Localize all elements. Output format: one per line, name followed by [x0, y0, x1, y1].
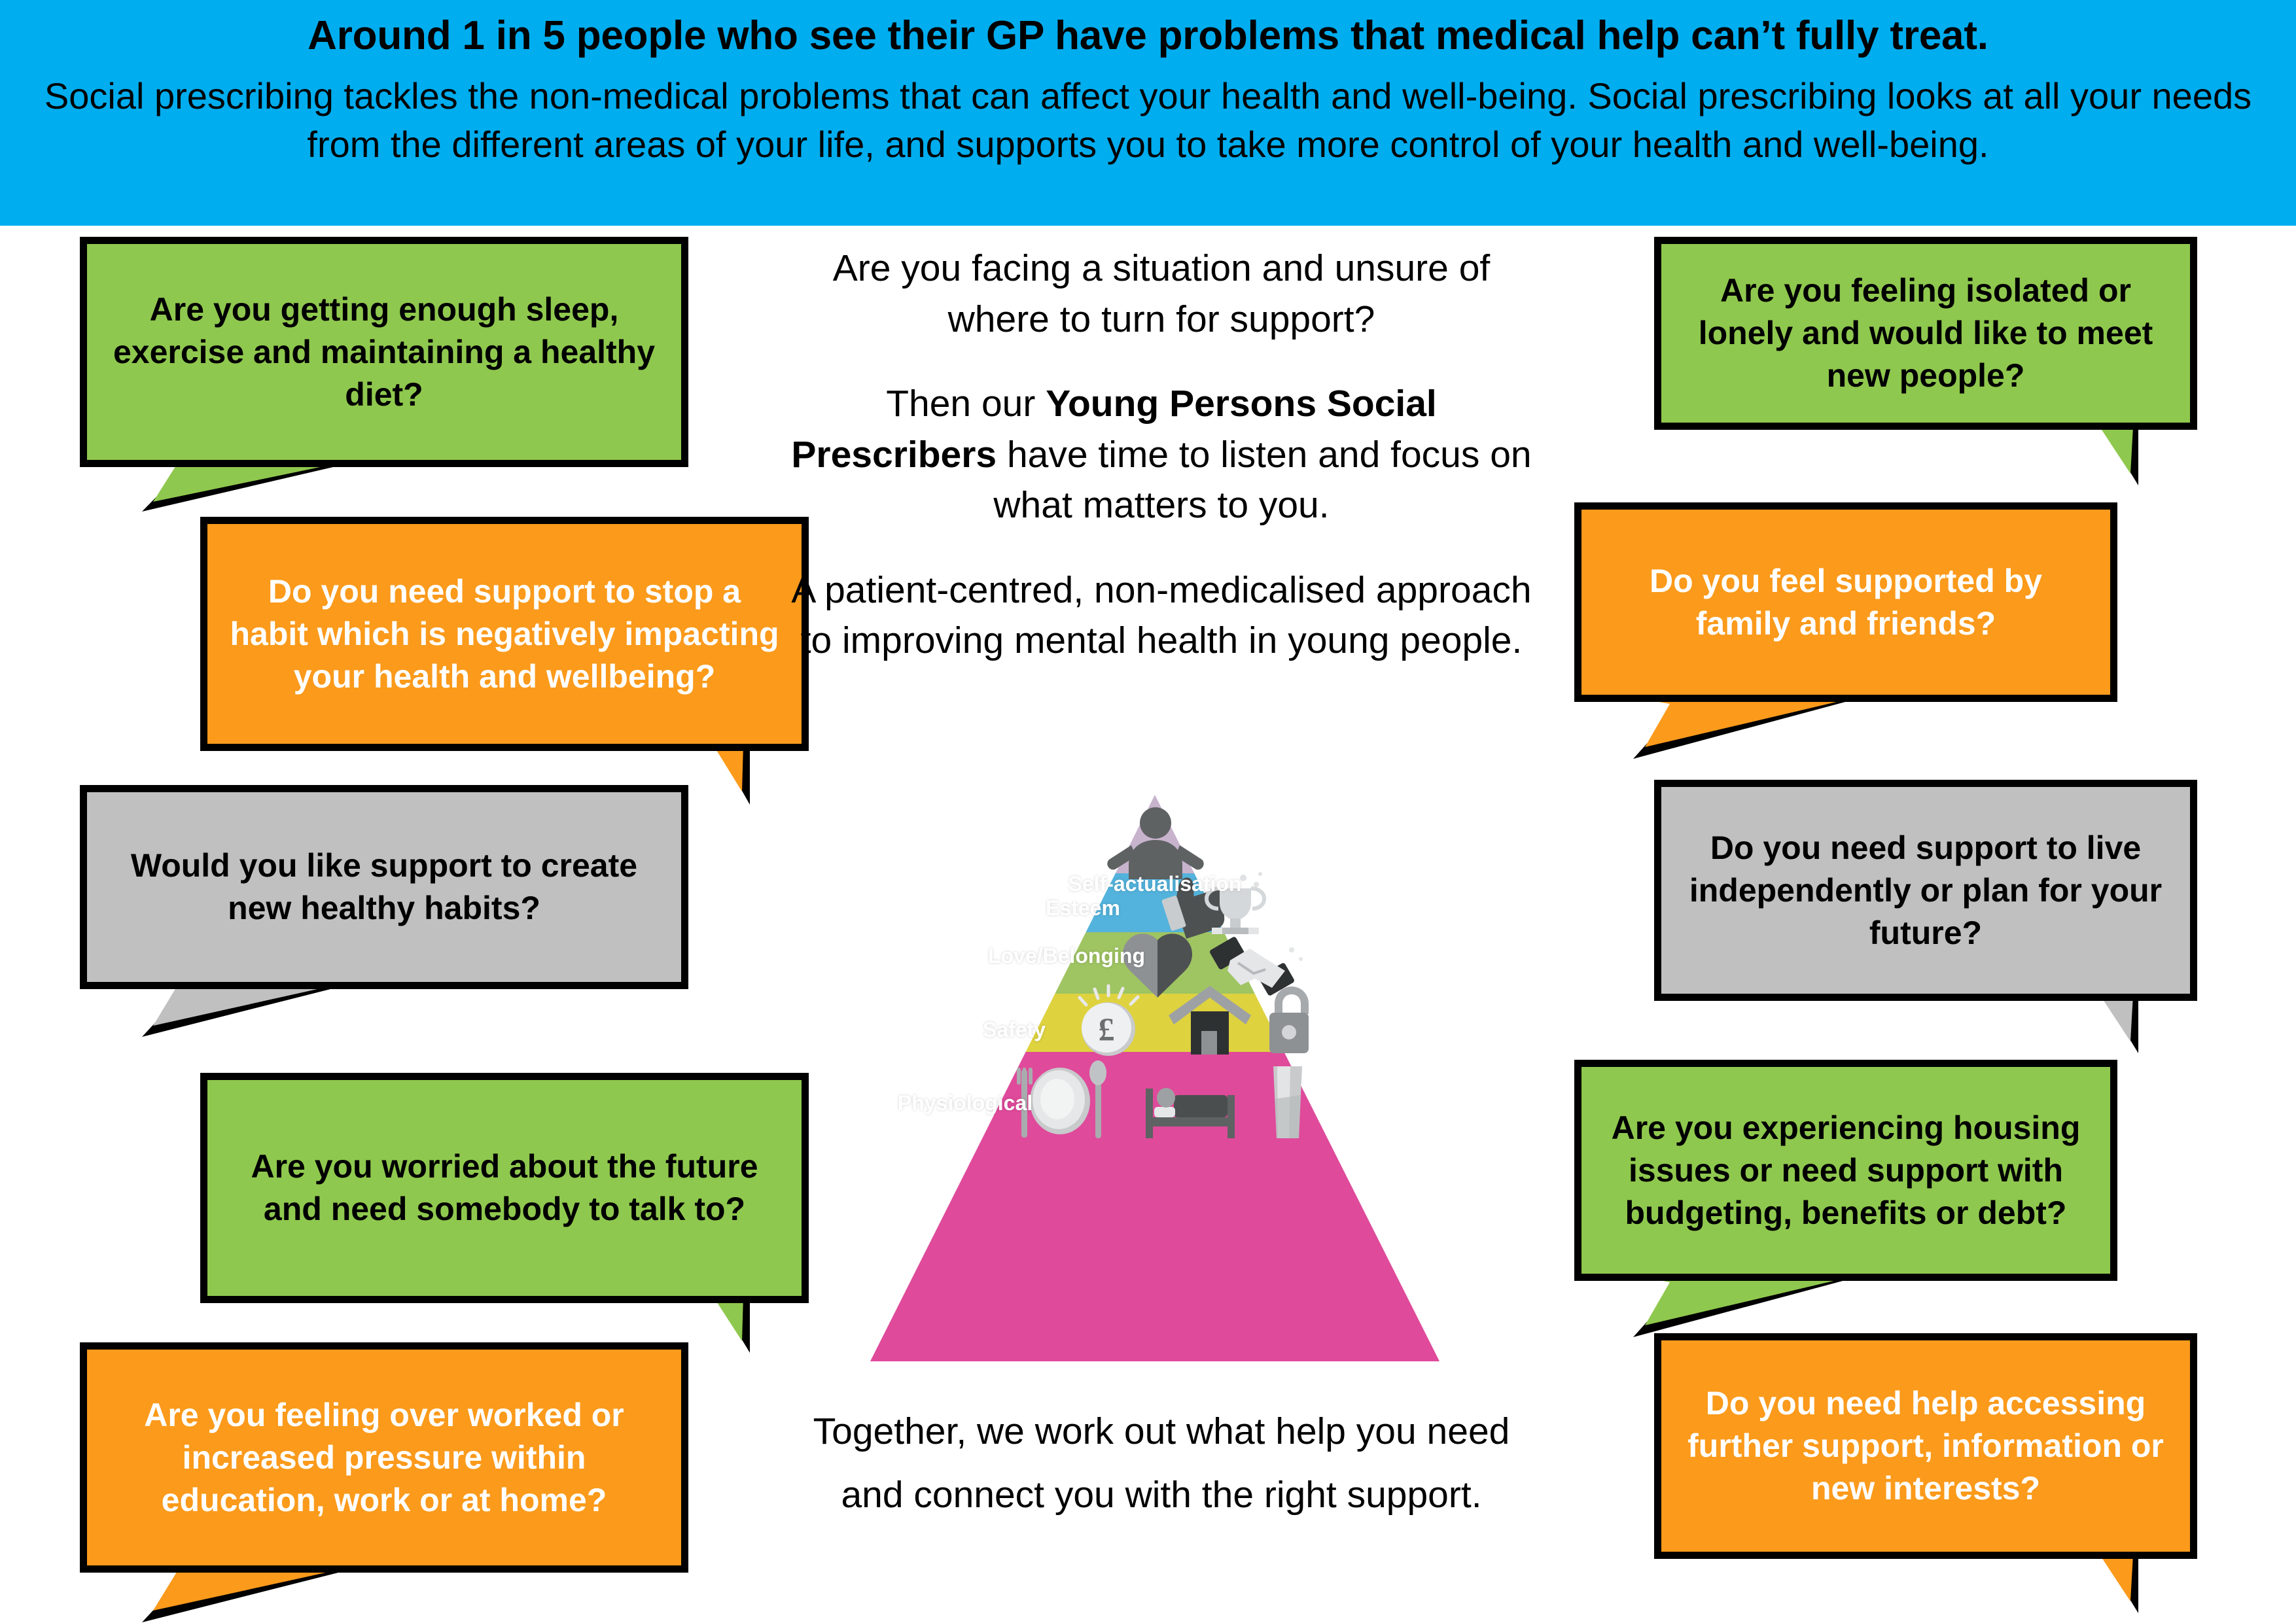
centre-para2-before: Then our [886, 383, 1046, 425]
bubble-text: Are you experiencing housing issues or n… [1581, 1107, 2110, 1234]
header-subtitle: Social prescribing tackles the non-medic… [26, 72, 2270, 169]
tier-label-esteem: Esteem [1017, 898, 1148, 920]
bubble-text: Do you feel supported by family and frie… [1581, 560, 2110, 645]
centre-paragraph-3: A patient-centred, non-medicalised appro… [779, 565, 1544, 667]
svg-text:£: £ [1099, 1011, 1115, 1047]
tier-label-love-belonging: Love/Belonging [988, 945, 1139, 968]
maslow-pyramid: £ [838, 772, 1479, 1374]
bubble-text: Are you feeling over worked or increased… [87, 1394, 681, 1522]
infographic-poster: Around 1 in 5 people who see their GP ha… [0, 0, 2296, 1623]
centre-paragraph-2: Then our Young Persons Social Prescriber… [779, 379, 1544, 531]
bubble-text: Do you need support to live independentl… [1661, 827, 2190, 954]
bubble-text: Are you feeling isolated or lonely and w… [1661, 270, 2190, 397]
water-glass-icon [1273, 1066, 1302, 1138]
tier-label-self-actualisation: Self-actualisation [1053, 873, 1256, 896]
tier-label-safety: Safety [949, 1019, 1080, 1041]
pyramid-graphic: £ [838, 772, 1479, 1374]
bubble-text: Are you getting enough sleep, exercise a… [87, 288, 681, 416]
speech-bubble-right-1[interactable]: Are you feeling isolated or lonely and w… [1654, 237, 2197, 498]
bottom-note: Together, we work out what help you need… [779, 1400, 1544, 1527]
bubble-text: Do you need support to stop a habit whic… [207, 570, 802, 698]
speech-bubble-right-3[interactable]: Do you need support to live independentl… [1654, 780, 2197, 1055]
speech-bubble-left-1[interactable]: Are you getting enough sleep, exercise a… [80, 237, 688, 512]
speech-bubble-right-4[interactable]: Are you experiencing housing issues or n… [1574, 1060, 2117, 1341]
centre-description: Are you facing a situation and unsure of… [779, 243, 1544, 667]
header-banner: Around 1 in 5 people who see their GP ha… [0, 0, 2296, 226]
speech-bubble-right-2[interactable]: Do you feel supported by family and frie… [1574, 502, 2117, 777]
page-title: Around 1 in 5 people who see their GP ha… [26, 10, 2270, 61]
speech-bubble-left-4[interactable]: Are you worried about the future and nee… [200, 1073, 809, 1348]
tier-safety [838, 994, 1479, 1052]
padlock-icon [1269, 986, 1309, 1053]
bubble-text: Are you worried about the future and nee… [207, 1145, 802, 1230]
tier-label-physiological: Physiological [870, 1092, 1060, 1115]
speech-bubble-left-5[interactable]: Are you feeling over worked or increased… [80, 1342, 688, 1617]
speech-bubble-left-2[interactable]: Do you need support to stop a habit whic… [200, 517, 809, 805]
speech-bubble-right-5[interactable]: Do you need help accessing further suppo… [1654, 1333, 2197, 1614]
bubble-text: Do you need help accessing further suppo… [1661, 1382, 2190, 1510]
centre-paragraph-1: Are you facing a situation and unsure of… [779, 243, 1544, 345]
centre-para2-after: have time to listen and focus on what ma… [993, 434, 1531, 527]
speech-bubble-left-3[interactable]: Would you like support to create new hea… [80, 785, 688, 1066]
bubble-text: Would you like support to create new hea… [87, 845, 681, 930]
